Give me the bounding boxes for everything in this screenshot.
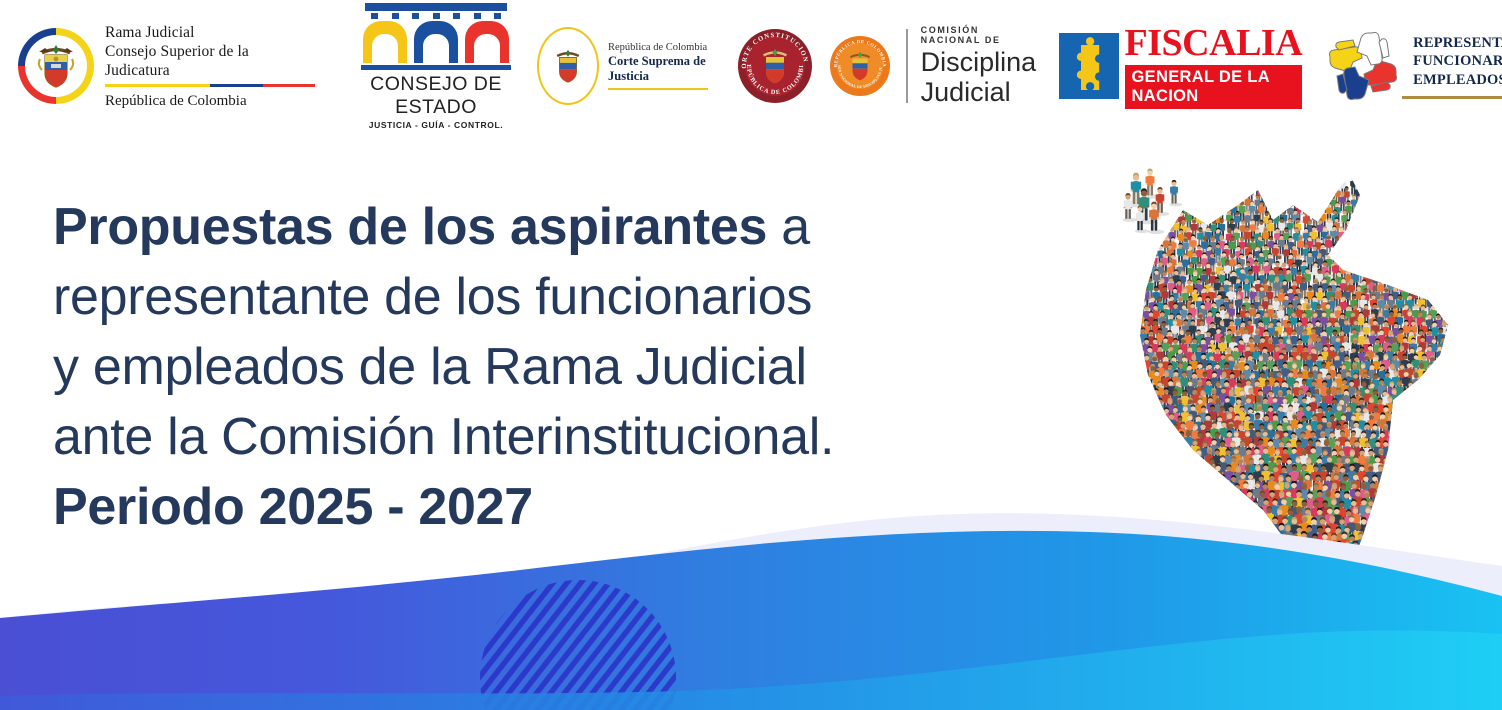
vertical-divider: [906, 29, 908, 103]
disciplina-judicial-seal-icon: REPÚBLICA DE COLOMBIA COMISIÓN NACIONAL …: [830, 36, 890, 96]
arches-building-icon: [361, 3, 511, 70]
representante-line2: FUNCIONARIOS Y: [1413, 52, 1502, 71]
corte-suprema-line1: República de Colombia: [608, 42, 708, 53]
corte-constitucional-seal-icon: CORTE CONSTITUCIONAL REPÚBLICA DE COLOMB…: [738, 29, 812, 103]
disciplina-line1: Disciplina: [921, 47, 1037, 77]
rama-judicial-line2: Consejo Superior de la Judicatura: [105, 42, 315, 80]
headline-line-3: y empleados de la Rama Judicial: [53, 332, 1083, 402]
fiscalia-title: FISCALIA: [1125, 24, 1303, 62]
decorative-wave-footer: [0, 500, 1502, 710]
svg-text:REPÚBLICA DE COLOMBIA: REPÚBLICA DE COLOMBIA: [833, 39, 887, 67]
logo-fiscalia-general-de-la-nacion: FISCALIA GENERAL DE LA NACION: [1059, 33, 1303, 99]
logo-corte-suprema-de-justicia: República de Colombia Corte Suprema de J…: [537, 21, 708, 111]
fiscalia-subtitle: GENERAL DE LA NACION: [1125, 65, 1303, 109]
gold-rule: [608, 88, 708, 91]
headline-regular-1: a: [767, 198, 810, 256]
colombia-coat-of-arms-oval-icon: [537, 27, 599, 105]
colombia-coat-of-arms-roundel-icon: [18, 28, 94, 104]
logo-consejo-de-estado: CONSEJO DE ESTADO JUSTICIA - GUÍA - CONT…: [315, 21, 511, 111]
consejo-de-estado-title: CONSEJO DE ESTADO: [361, 73, 511, 119]
tricolor-rule: [105, 84, 315, 87]
headline-line-1: Propuestas de los aspirantes a: [53, 192, 1083, 262]
institutional-logo-strip: Rama Judicial Consejo Superior de la Jud…: [0, 0, 1502, 132]
headline-bold-1: Propuestas de los aspirantes: [53, 198, 767, 256]
logo-rama-judicial: Rama Judicial Consejo Superior de la Jud…: [18, 21, 315, 111]
logo-comision-nacional-disciplina-judicial: COMISIÓN NACIONAL DE Disciplina Judicial: [906, 25, 1037, 107]
four-hands-icon: [1324, 27, 1402, 105]
corte-suprema-line2: Corte Suprema de Justicia: [608, 54, 708, 84]
consejo-de-estado-tagline: JUSTICIA - GUÍA - CONTROL.: [361, 120, 511, 130]
headline-line-4: ante la Comisión Interinstitucional.: [53, 402, 1083, 472]
logo-representante-funcionarios: REPRESENTANTE DE FUNCIONARIOS Y EMPLEADO…: [1324, 27, 1502, 105]
headline-line-2: representante de los funcionarios: [53, 262, 1083, 332]
rama-judicial-line3: República de Colombia: [105, 92, 315, 110]
gold-rule: [1402, 96, 1502, 99]
representante-line1: REPRESENTANTE DE: [1413, 34, 1502, 53]
disciplina-eyebrow: COMISIÓN NACIONAL DE: [921, 25, 1037, 45]
page-title: Propuestas de los aspirantes a represent…: [53, 192, 1083, 542]
rama-judicial-line1: Rama Judicial: [105, 23, 315, 42]
representante-line3: EMPLEADOS JUDICIALES: [1413, 71, 1502, 90]
svg-text:CORTE CONSTITUCIONAL: CORTE CONSTITUCIONAL: [738, 29, 809, 69]
puzzle-piece-icon: [1059, 33, 1119, 99]
disciplina-line2: Judicial: [921, 77, 1037, 107]
